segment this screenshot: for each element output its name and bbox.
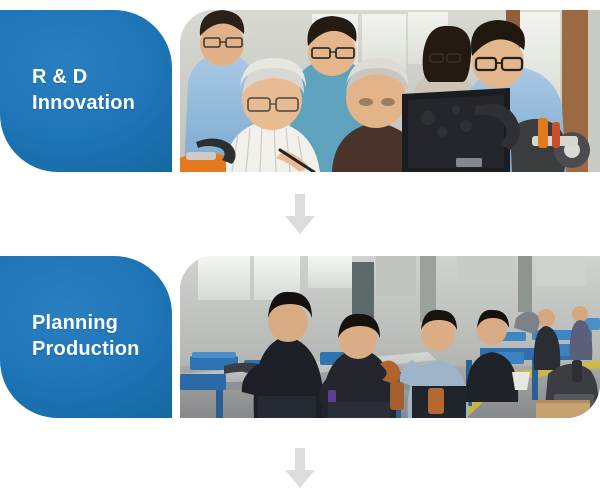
- step-1-label-card: R & D Innovation: [0, 10, 172, 172]
- step-2-label-card: Planning Production: [0, 256, 172, 418]
- process-flow-diagram: R & D Innovation: [0, 0, 600, 500]
- process-step-1: R & D Innovation: [0, 10, 600, 172]
- arrow-down-icon: [285, 194, 315, 234]
- step-1-label-line-2: Innovation: [32, 91, 172, 117]
- step-2-label-line-2: Production: [32, 337, 172, 363]
- arrow-down-icon: [285, 448, 315, 488]
- flow-connector-2: [282, 448, 318, 488]
- step-2-label-line-1: Planning: [32, 311, 172, 337]
- rd-innovation-photo: [180, 10, 600, 172]
- process-step-2: Planning Production: [0, 256, 600, 418]
- flow-connector-1: [282, 194, 318, 234]
- step-1-label-line-1: R & D: [32, 65, 172, 91]
- planning-production-photo: [180, 256, 600, 418]
